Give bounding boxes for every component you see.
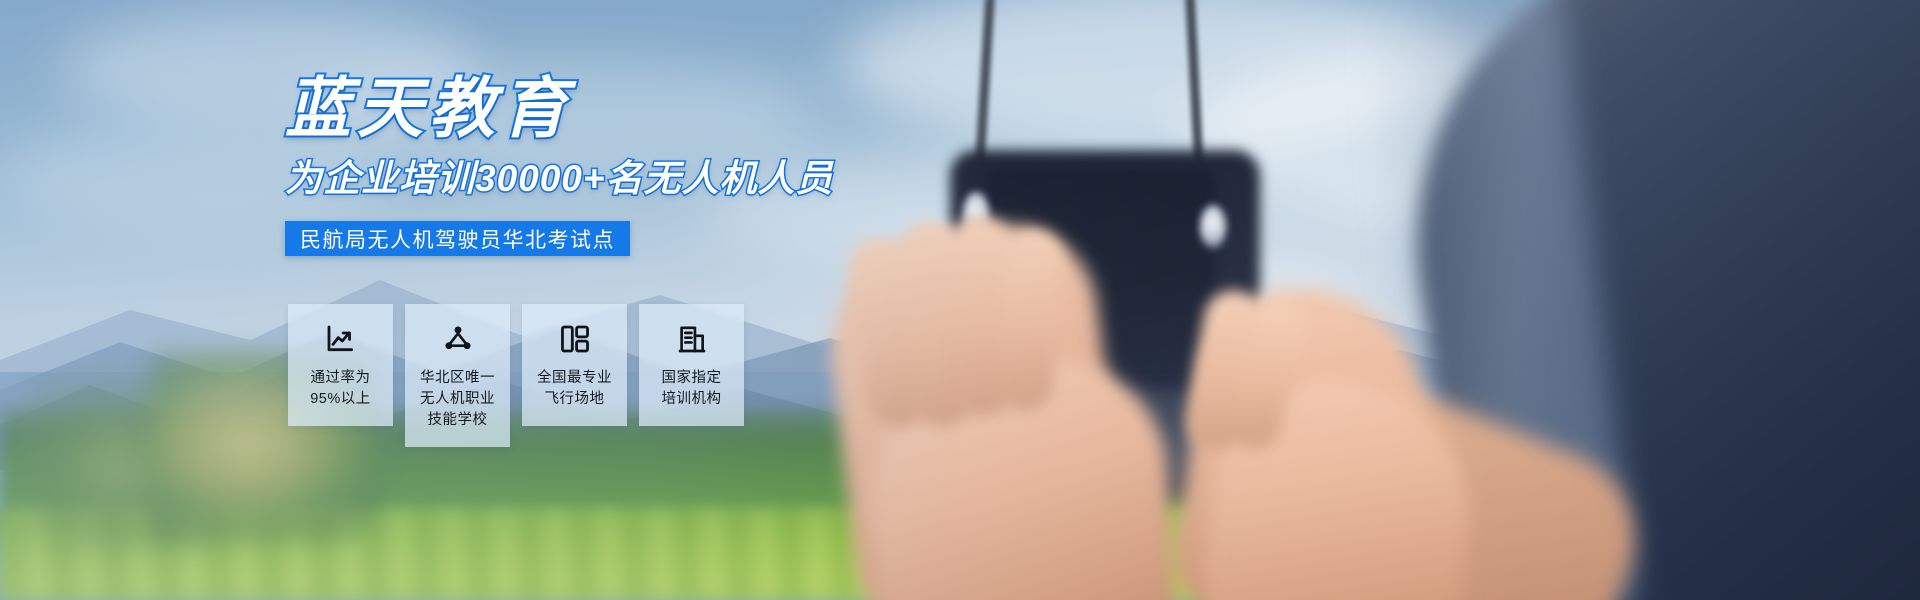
feature-line: 通过率为 xyxy=(310,368,371,389)
network-nodes-icon xyxy=(441,322,475,356)
feature-line: 95%以上 xyxy=(310,389,371,410)
feature-card-only-school[interactable]: 华北区唯一 无人机职业 技能学校 xyxy=(405,304,510,447)
banner-overlay: 蓝天教育 为企业培训30000+名无人机人员 民航局无人机驾驶员华北考试点 通过… xyxy=(0,0,1920,600)
layout-panels-icon xyxy=(558,322,592,356)
feature-line: 培训机构 xyxy=(662,389,722,410)
banner-subtitle: 为企业培训30000+名无人机人员 xyxy=(285,160,834,197)
building-office-icon xyxy=(675,322,709,356)
feature-line: 技能学校 xyxy=(420,410,495,431)
hero-banner: 蓝天教育 为企业培训30000+名无人机人员 民航局无人机驾驶员华北考试点 通过… xyxy=(0,0,1920,600)
feature-card-text: 通过率为 95%以上 xyxy=(310,368,371,410)
feature-card-flight-field[interactable]: 全国最专业 飞行场地 xyxy=(522,304,627,426)
trending-up-chart-icon xyxy=(324,322,358,356)
brand-title: 蓝天教育 xyxy=(285,75,573,141)
feature-line: 飞行场地 xyxy=(537,389,612,410)
feature-line: 无人机职业 xyxy=(420,389,495,410)
feature-line: 全国最专业 xyxy=(537,368,612,389)
feature-card-pass-rate[interactable]: 通过率为 95%以上 xyxy=(288,304,393,426)
feature-card-national-institution[interactable]: 国家指定 培训机构 xyxy=(639,304,744,426)
feature-card-text: 国家指定 培训机构 xyxy=(662,368,722,410)
feature-line: 华北区唯一 xyxy=(420,368,495,389)
certification-badge: 民航局无人机驾驶员华北考试点 xyxy=(285,221,630,256)
feature-card-text: 华北区唯一 无人机职业 技能学校 xyxy=(420,368,495,431)
feature-card-text: 全国最专业 飞行场地 xyxy=(537,368,612,410)
feature-line: 国家指定 xyxy=(662,368,722,389)
feature-card-list: 通过率为 95%以上 华北区唯一 无人 xyxy=(288,304,744,447)
